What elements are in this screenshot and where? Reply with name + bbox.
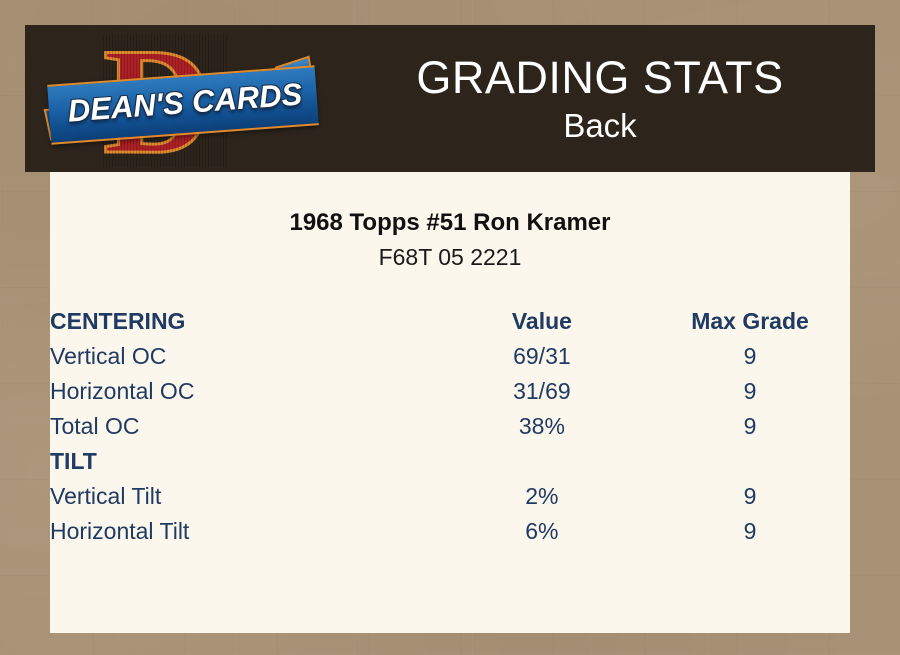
table-row: Vertical Tilt 2% 9	[50, 479, 850, 514]
row-value-vertical-tilt: 2%	[434, 479, 650, 514]
deans-cards-logo[interactable]: D DEAN'S CARDS	[49, 29, 317, 169]
row-grade-horizontal-tilt: 9	[650, 514, 850, 549]
section-header-tilt: TILT	[50, 444, 434, 479]
row-value-horizontal-oc: 31/69	[434, 374, 650, 409]
row-value-vertical-oc: 69/31	[434, 339, 650, 374]
stats-table-header: CENTERING Value Max Grade	[50, 304, 850, 339]
stats-table-body: Vertical OC 69/31 9 Horizontal OC 31/69 …	[50, 339, 850, 549]
card-subtitle: F68T 05 2221	[50, 242, 850, 272]
column-header-value: Value	[434, 304, 650, 339]
row-value-total-oc: 38%	[434, 409, 650, 444]
table-row: Total OC 38% 9	[50, 409, 850, 444]
row-value-horizontal-tilt: 6%	[434, 514, 650, 549]
row-label-vertical-tilt: Vertical Tilt	[50, 479, 434, 514]
header-title-group: GRADING STATS Back	[325, 25, 875, 172]
grading-stats-table: CENTERING Value Max Grade Vertical OC 69…	[50, 304, 850, 549]
row-label-total-oc: Total OC	[50, 409, 434, 444]
table-header-row: CENTERING Value Max Grade	[50, 304, 850, 339]
row-label-horizontal-tilt: Horizontal Tilt	[50, 514, 434, 549]
section-header-tilt-value-spacer	[434, 444, 650, 479]
row-grade-total-oc: 9	[650, 409, 850, 444]
content-panel: 1968 Topps #51 Ron Kramer F68T 05 2221 C…	[50, 172, 850, 633]
table-row: Horizontal OC 31/69 9	[50, 374, 850, 409]
table-row: Vertical OC 69/31 9	[50, 339, 850, 374]
row-grade-vertical-tilt: 9	[650, 479, 850, 514]
row-grade-vertical-oc: 9	[650, 339, 850, 374]
column-header-centering: CENTERING	[50, 304, 434, 339]
column-header-max-grade: Max Grade	[650, 304, 850, 339]
header-bar: D DEAN'S CARDS GRADING STATS Back	[25, 25, 875, 172]
card-title: 1968 Topps #51 Ron Kramer	[50, 208, 850, 238]
row-label-vertical-oc: Vertical OC	[50, 339, 434, 374]
table-row: Horizontal Tilt 6% 9	[50, 514, 850, 549]
row-grade-horizontal-oc: 9	[650, 374, 850, 409]
row-label-horizontal-oc: Horizontal OC	[50, 374, 434, 409]
section-header-tilt-grade-spacer	[650, 444, 850, 479]
table-section-row-tilt: TILT	[50, 444, 850, 479]
page-subtitle: Back	[563, 106, 636, 146]
page-root: D DEAN'S CARDS GRADING STATS Back 1968 T…	[0, 0, 900, 655]
page-title: GRADING STATS	[416, 52, 783, 104]
